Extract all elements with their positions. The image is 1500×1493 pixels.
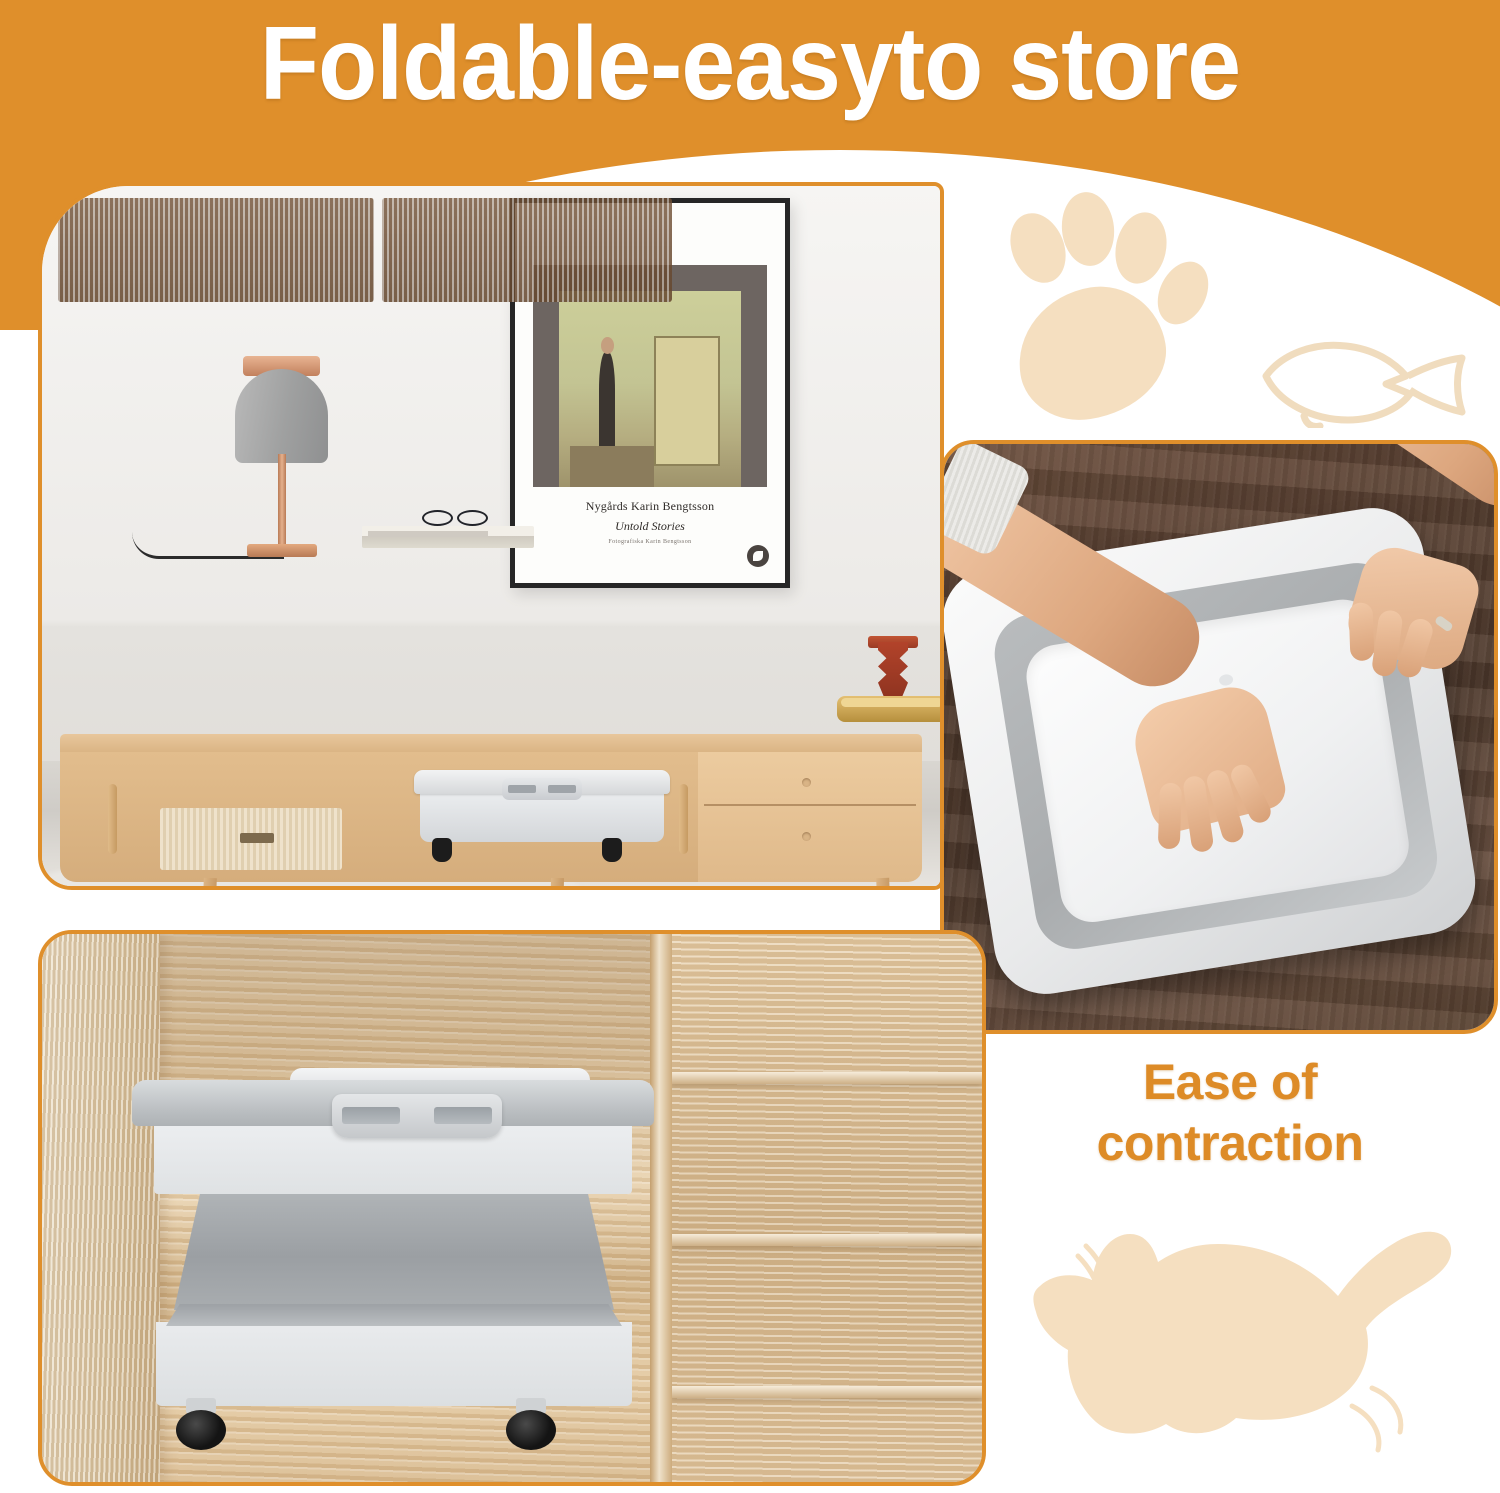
- hands-collapsing-basin-photo: [940, 440, 1498, 1034]
- box-castor-right: [506, 1398, 556, 1450]
- finger: [1348, 602, 1374, 661]
- fluted-glass-door-left: [58, 198, 374, 302]
- page-title: Foldable-easyto store: [53, 8, 1448, 120]
- feature-caption: Ease of contraction: [1000, 1052, 1460, 1174]
- table-lamp-shade: [235, 369, 328, 463]
- lamp-base: [247, 544, 317, 557]
- poster-caption-block: Nygårds Karin Bengtsson Untold Stories F…: [515, 487, 785, 583]
- cabinet-shelf: [670, 1386, 982, 1398]
- sideboard-handle-left: [108, 784, 117, 854]
- folded-storage-box: [414, 770, 670, 850]
- drawer-knob-top: [802, 778, 811, 787]
- drawer-knob-bottom: [802, 832, 811, 841]
- basin-drain-dot: [1218, 673, 1234, 686]
- box-bellows-fold: [166, 1304, 622, 1326]
- gold-tray: [837, 696, 944, 722]
- poster-artwork: [559, 291, 741, 495]
- box-castor-left: [176, 1398, 226, 1450]
- box-lower-rim: [156, 1322, 632, 1406]
- folded-box-castor-right: [602, 838, 622, 862]
- living-room-photo: Nygårds Karin Bengtsson Untold Stories F…: [38, 182, 944, 890]
- sideboard-top: [60, 734, 922, 754]
- box-collapsible-bellows: [174, 1192, 614, 1310]
- poster-subtitle-line: Fotografiska Karin Bengtsson: [515, 539, 785, 545]
- caption-line-1: Ease of: [1000, 1052, 1460, 1113]
- cabinet-vertical-divider: [650, 934, 672, 1482]
- sideboard-leg-center: [549, 878, 564, 890]
- finger-ring: [1434, 615, 1454, 633]
- artwork-door-shape: [654, 336, 720, 466]
- paw-pad: [1009, 277, 1176, 429]
- cat-silhouette-icon: [1000, 1200, 1470, 1470]
- artwork-figure: [599, 352, 615, 446]
- stacked-books: [362, 526, 534, 548]
- cabinet-shelf: [670, 1234, 982, 1246]
- caption-line-2: contraction: [1000, 1113, 1460, 1174]
- finger: [1158, 783, 1182, 850]
- fluted-glass-door-right: [382, 198, 672, 302]
- cabinet-shelf: [670, 1072, 982, 1084]
- box-handle: [332, 1094, 502, 1138]
- folded-box-castor-left: [432, 838, 452, 862]
- woven-basket: [160, 808, 342, 870]
- paw-toe: [1109, 208, 1173, 289]
- sideboard-handle-right: [679, 784, 688, 854]
- fish-outline-icon: [1258, 332, 1468, 428]
- poster-artist-line: Nygårds Karin Bengtsson: [515, 499, 785, 514]
- book-spine-text: [368, 531, 488, 537]
- poster-logo-icon: [747, 545, 769, 567]
- poster-title-line: Untold Stories: [515, 519, 785, 534]
- product-feature-poster: Foldable-easyto store Nygårds Karin Beng…: [0, 0, 1500, 1493]
- sideboard-drawers: [698, 752, 922, 882]
- cabinet-right-panel: [662, 934, 982, 1482]
- folded-box-handle: [502, 778, 582, 800]
- paw-toe: [1058, 189, 1117, 268]
- lamp-stem: [278, 454, 286, 549]
- eyeglasses-icon: [422, 508, 488, 524]
- storage-box-in-cabinet-photo: [38, 930, 986, 1486]
- expanded-storage-box: [140, 1080, 646, 1432]
- paw-print-icon: [1000, 192, 1210, 407]
